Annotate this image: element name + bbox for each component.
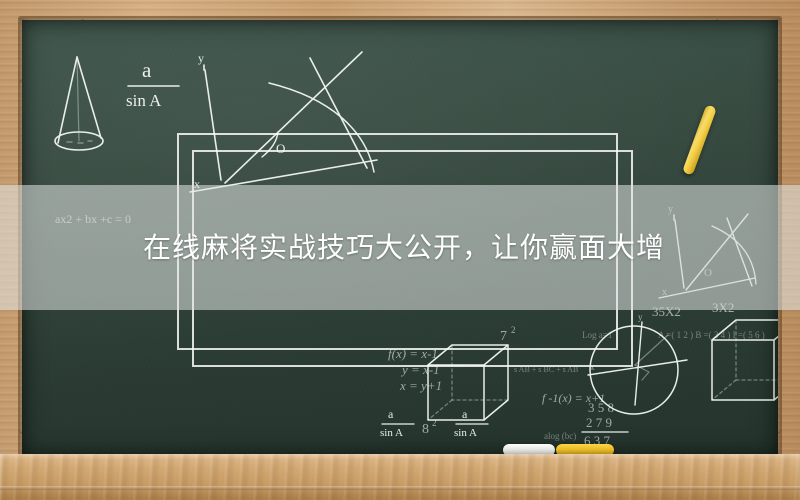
title-overlay-band: 在线麻将实战技巧大公开，让你赢面大增 bbox=[0, 185, 800, 310]
page-title: 在线麻将实战技巧大公开，让你赢面大增 bbox=[143, 231, 665, 265]
chalk-ledge bbox=[0, 454, 800, 500]
ledge-lip bbox=[0, 486, 800, 490]
blackboard-banner: a sin A ax2 + bx +c = 0 y x O bbox=[0, 0, 800, 500]
